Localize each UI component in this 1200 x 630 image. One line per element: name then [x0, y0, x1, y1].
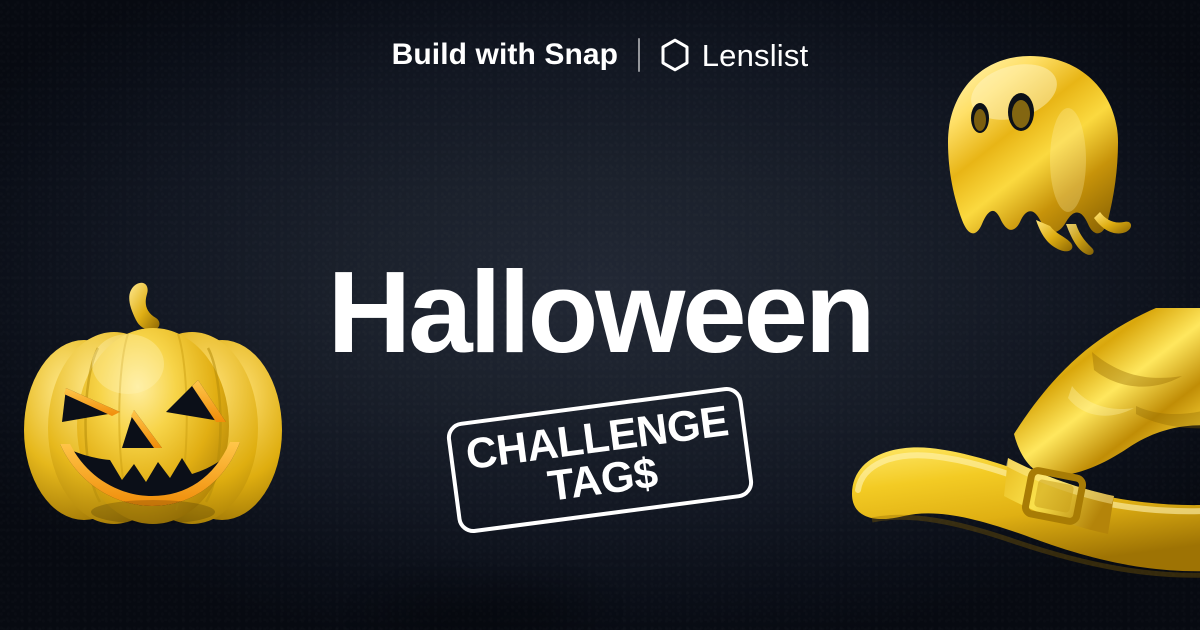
header-divider [638, 38, 640, 72]
page-title: Halloween [0, 254, 1200, 370]
header-lockup: Build with Snap Lenslist [0, 38, 1200, 72]
gold-ghost-icon [918, 48, 1148, 263]
halloween-challenge-banner: Build with Snap Lenslist Halloween CHALL… [0, 0, 1200, 630]
lenslist-label: Lenslist [702, 40, 809, 71]
build-with-snap-label: Build with Snap [392, 40, 619, 70]
background-silhouette [330, 526, 630, 630]
badge-text: CHALLENGE TAG$ [445, 385, 755, 535]
lenslist-hexagon-icon [660, 38, 690, 72]
challenge-tags-badge: CHALLENGE TAG$ [445, 385, 755, 535]
lenslist-brand[interactable]: Lenslist [660, 38, 809, 72]
